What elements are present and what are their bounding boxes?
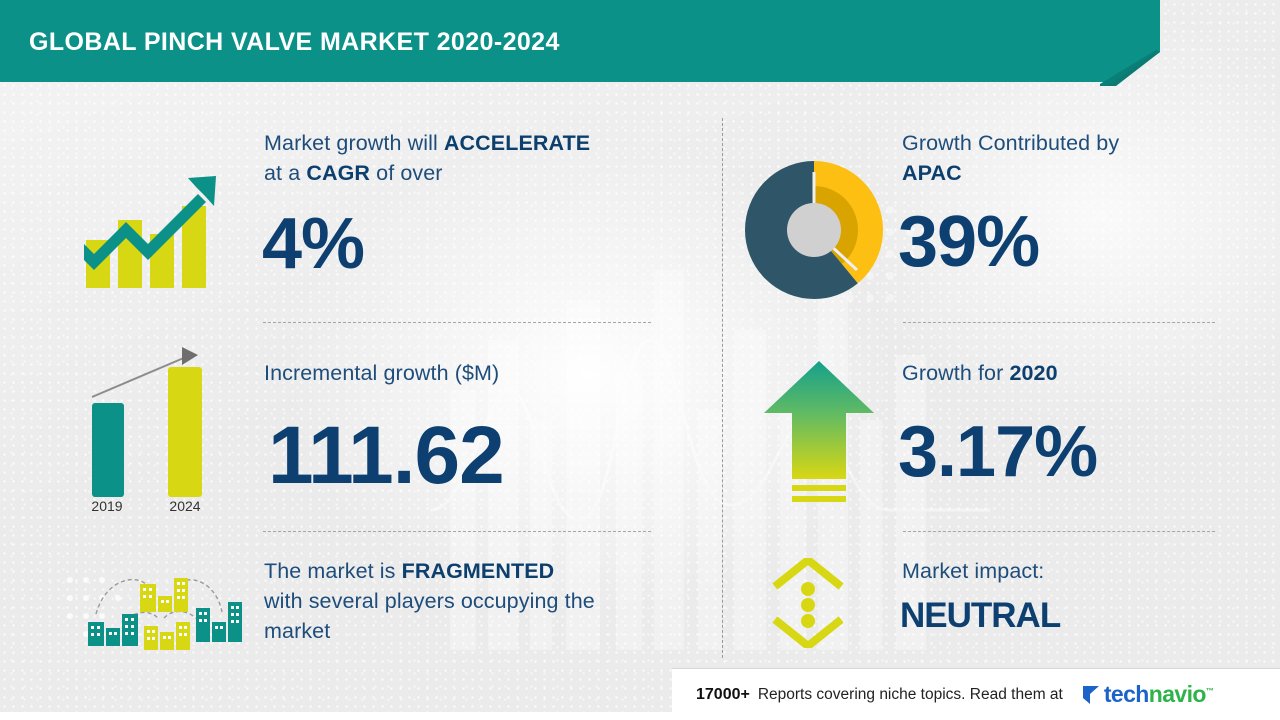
- cagr-accelerate-word: ACCELERATE: [444, 131, 590, 155]
- growth-2020-prefix: Growth for: [902, 361, 1009, 385]
- cagr-word: CAGR: [306, 161, 370, 185]
- bar-label-2019: 2019: [82, 498, 132, 514]
- fragmentation-line1-prefix: The market is: [264, 559, 402, 583]
- right-divider-2: [903, 531, 1215, 532]
- reports-count: 17000+: [696, 686, 750, 704]
- left-divider-1: [263, 322, 651, 323]
- cagr-value: 4%: [262, 208, 364, 280]
- column-divider: [722, 118, 723, 658]
- cagr-line2-suffix: of over: [370, 161, 443, 185]
- right-divider-1: [903, 322, 1215, 323]
- incremental-growth-label: Incremental growth ($M): [264, 358, 664, 388]
- logo-trademark: ™: [1206, 686, 1213, 695]
- up-arrow-icon: [762, 355, 877, 515]
- market-impact-label: Market impact:: [902, 556, 1202, 586]
- incremental-growth-value: 111.62: [268, 415, 504, 497]
- neutral-indicator-icon: [772, 558, 844, 648]
- fragmentation-line3: market: [264, 619, 330, 643]
- technavio-logo[interactable]: technavio™: [1081, 681, 1213, 708]
- bar-comparison-icon: 2019 2024: [70, 335, 235, 520]
- growth-2020-value: 3.17%: [898, 416, 1097, 488]
- cagr-line1-prefix: Market growth will: [264, 131, 444, 155]
- page-title: GLOBAL PINCH VALVE MARKET 2020-2024: [29, 28, 560, 57]
- logo-text-navio: navio: [1149, 681, 1206, 707]
- cagr-line2-prefix: at a: [264, 161, 306, 185]
- fragmented-market-icon: [78, 552, 243, 652]
- market-impact-value: NEUTRAL: [900, 598, 1060, 633]
- fragmentation-description: The market is FRAGMENTED with several pl…: [264, 556, 684, 646]
- growth-chart-icon: [78, 148, 233, 288]
- apac-word: APAC: [902, 161, 962, 185]
- logo-text-tech: tech: [1104, 681, 1149, 707]
- apac-line1: Growth Contributed by: [902, 131, 1119, 155]
- technavio-flag-icon: [1081, 684, 1101, 706]
- cagr-description: Market growth will ACCELERATE at a CAGR …: [264, 128, 664, 188]
- apac-description: Growth Contributed by APAC: [902, 128, 1202, 188]
- growth-2020-year: 2020: [1009, 361, 1057, 385]
- bar-label-2024: 2024: [160, 498, 210, 514]
- footer-tagline: Reports covering niche topics. Read them…: [758, 686, 1063, 704]
- fragmented-word: FRAGMENTED: [402, 559, 555, 583]
- fragmentation-line2: with several players occupying the: [264, 589, 595, 613]
- apac-value: 39%: [898, 206, 1039, 278]
- left-divider-2: [263, 531, 651, 532]
- footer-bar: 17000+ Reports covering niche topics. Re…: [672, 668, 1280, 720]
- donut-chart-icon: [744, 160, 884, 300]
- growth-2020-label: Growth for 2020: [902, 358, 1202, 388]
- infographic-canvas: GLOBAL PINCH VALVE MARKET 2020-2024: [0, 0, 1280, 720]
